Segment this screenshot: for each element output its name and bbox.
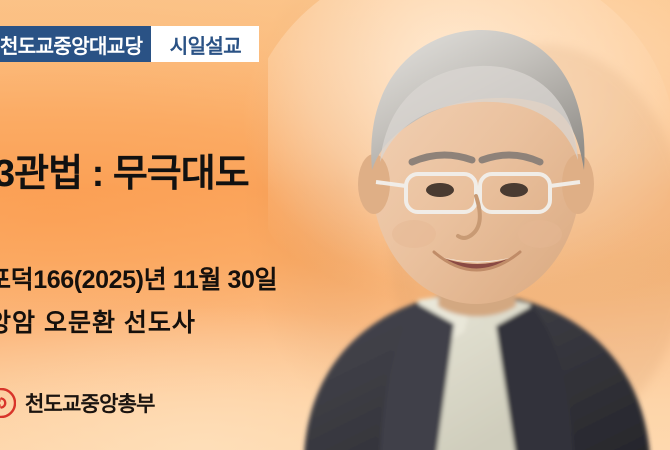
sermon-date: 포덕166(2025)년 11월 30일 [0,268,277,293]
badge-row: 천도교중앙대교당 시일설교 [0,26,259,62]
page-title: 3관법 : 무극대도 [0,142,249,197]
speaker-portrait-photo [268,0,670,450]
cheondogyo-eulmark-icon [0,388,16,418]
sermon-speaker: 앙암 오문환 선도사 [0,311,277,336]
organization-name: 천도교중앙총부 [25,388,155,418]
meta-block: 포덕166(2025)년 11월 30일 앙암 오문환 선도사 [0,268,277,336]
sermon-banner: 천도교중앙대교당 시일설교 3관법 : 무극대도 포덕166(2025)년 11… [0,0,670,450]
footer-logo: 천도교중앙총부 [0,388,155,418]
badge-venue[interactable]: 천도교중앙대교당 [0,26,151,62]
badge-program[interactable]: 시일설교 [151,26,259,62]
